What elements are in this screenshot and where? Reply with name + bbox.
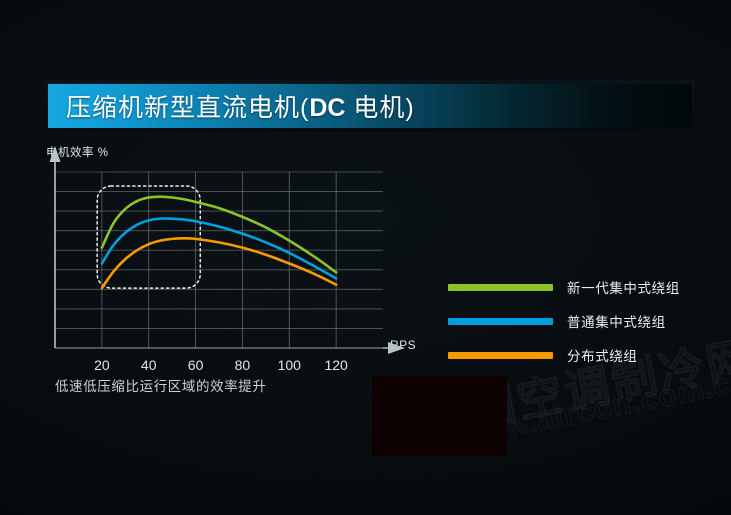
legend-swatch-green xyxy=(448,284,553,291)
legend-label: 新一代集中式绕组 xyxy=(567,277,680,297)
svg-text:120: 120 xyxy=(324,357,348,373)
svg-text:100: 100 xyxy=(278,357,302,373)
legend-item: 新一代集中式绕组 xyxy=(448,270,698,304)
page-title-dc: DC xyxy=(309,94,345,122)
efficiency-chart: 电机效率 % RPS 20406080100120 xyxy=(38,144,458,374)
svg-text:40: 40 xyxy=(141,357,157,373)
svg-text:20: 20 xyxy=(94,357,110,373)
chart-caption: 低速低压缩比运行区域的效率提升 xyxy=(55,375,267,395)
page-title-main: 压缩机新型直流电机( xyxy=(66,94,309,122)
page-title: 压缩机新型直流电机(DC 电机) xyxy=(48,88,415,124)
svg-text:80: 80 xyxy=(235,357,251,373)
legend-swatch-orange xyxy=(448,352,553,359)
svg-text:60: 60 xyxy=(188,357,204,373)
legend-label: 分布式绕组 xyxy=(567,345,638,365)
legend-item: 分布式绕组 xyxy=(448,338,698,372)
page-title-tail: 电机) xyxy=(345,94,414,122)
legend-swatch-blue xyxy=(448,318,553,325)
legend-item: 普通集中式绕组 xyxy=(448,304,698,338)
chart-plot-area: 20406080100120 xyxy=(38,144,458,374)
legend-label: 普通集中式绕组 xyxy=(567,311,666,331)
chart-legend: 新一代集中式绕组 普通集中式绕组 分布式绕组 xyxy=(448,270,698,372)
slide-canvas: 中国空调制冷网 www.aircon.com.cn 压缩机新型直流电机(DC 电… xyxy=(0,0,731,515)
header-bar: 压缩机新型直流电机(DC 电机) xyxy=(48,84,692,128)
redaction-rectangle xyxy=(372,376,507,456)
